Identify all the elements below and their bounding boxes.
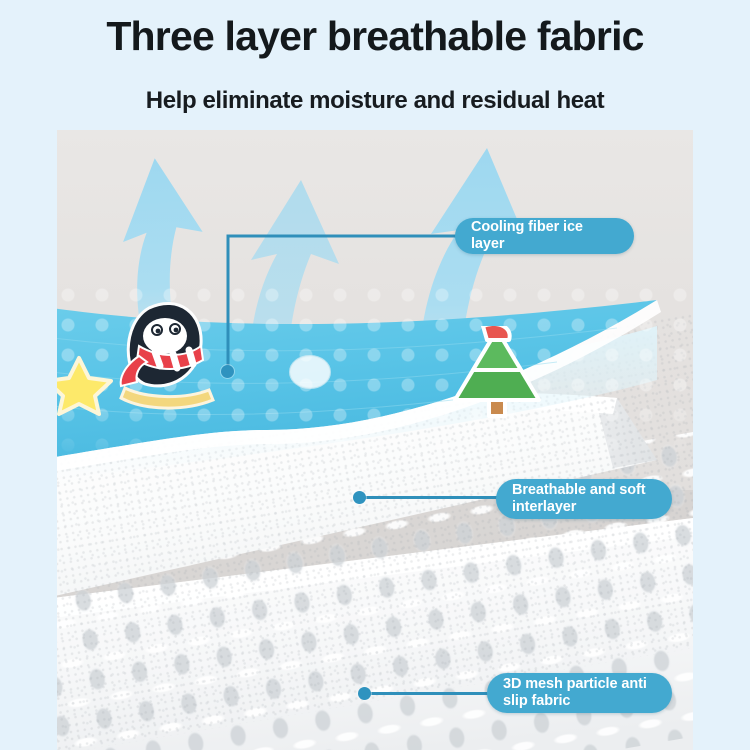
callout-label: Cooling fiber ice layer [471, 219, 618, 253]
leader-line-3d-mesh [366, 692, 498, 695]
callout-3d-mesh-particle-anti-slip-fabric[interactable]: 3D mesh particle anti slip fabric [487, 673, 672, 713]
leader-dot-breathable-interlayer [353, 491, 366, 504]
callout-label: Breathable and soft interlayer [512, 482, 645, 516]
leader-line-breathable-interlayer [360, 496, 510, 499]
page-subtitle: Help eliminate moisture and residual hea… [0, 86, 750, 116]
leader-line-cooling-fiber [218, 224, 468, 384]
page-title: Three layer breathable fabric [0, 12, 750, 60]
callout-breathable-and-soft-interlayer[interactable]: Breathable and soft interlayer [496, 479, 672, 519]
callout-cooling-fiber-ice-layer[interactable]: Cooling fiber ice layer [455, 218, 634, 254]
infographic-root: Three layer breathable fabric Help elimi… [0, 0, 750, 750]
leader-dot-cooling-fiber [221, 365, 234, 378]
leader-dot-3d-mesh [358, 687, 371, 700]
callout-label: 3D mesh particle anti slip fabric [503, 676, 647, 710]
